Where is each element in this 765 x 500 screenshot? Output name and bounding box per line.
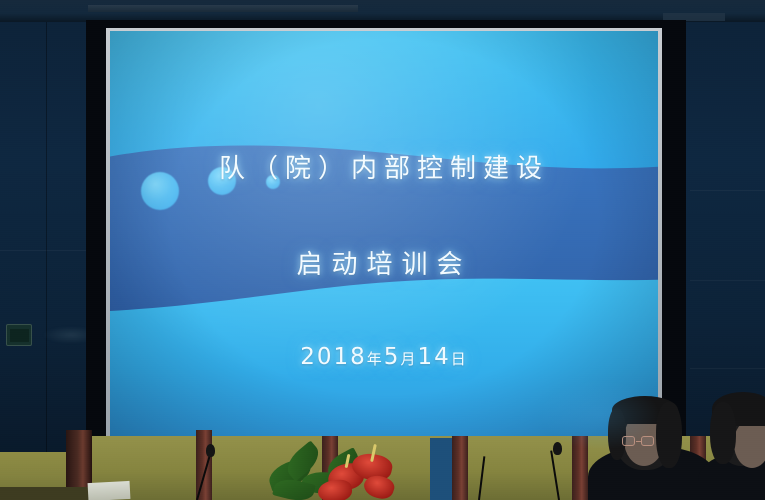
slide-wave-bottom (110, 31, 658, 445)
slide-title: 队（院）内部控制建设 (110, 148, 658, 185)
slide-date-day-unit: 日 (451, 350, 468, 368)
slide-date-year: 2018 (300, 344, 367, 370)
slide-date-year-unit: 年 (367, 350, 384, 368)
wall-seam (690, 368, 765, 369)
ceiling-rail (88, 5, 358, 12)
wall-panel-line (46, 22, 47, 452)
wall-pillar (452, 436, 468, 500)
banner-strip (430, 438, 452, 500)
photo-scene: 队（院）内部控制建设 启动培训会 2018年5月14日 (0, 0, 765, 500)
slide-subtitle: 启动培训会 (110, 244, 658, 281)
slide-date-month-unit: 月 (400, 350, 417, 368)
wall-seam (690, 190, 765, 191)
paper-sheet (88, 481, 131, 500)
slide-date: 2018年5月14日 (110, 344, 658, 370)
wall-base (0, 487, 100, 500)
slide-date-month: 5 (384, 344, 401, 370)
wall-plate-icon[interactable] (6, 324, 32, 346)
wall-seam (690, 280, 765, 281)
projection-screen: 队（院）内部控制建设 启动培训会 2018年5月14日 (110, 31, 658, 445)
wall-pillar (572, 436, 588, 500)
slide-date-day: 14 (417, 344, 450, 370)
flower-icon (268, 448, 418, 500)
wall-seam (0, 250, 86, 251)
